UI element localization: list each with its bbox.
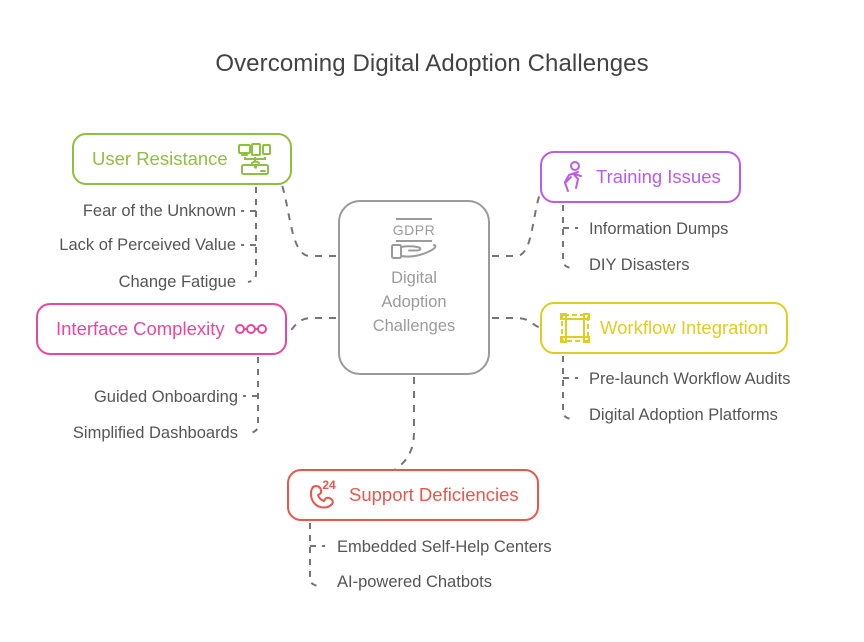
branch-support-deficiencies-label: Support Deficiencies (349, 484, 519, 506)
phone-24-support-icon: 24 (307, 479, 339, 511)
svg-text:24: 24 (322, 479, 336, 492)
central-label-line-3: Challenges (373, 314, 456, 338)
branch-user-resistance[interactable]: User Resistance (72, 133, 292, 185)
spine-interface-complexity (250, 357, 258, 433)
leaf-information-dumps: Information Dumps (589, 219, 728, 239)
branch-training-issues[interactable]: Training Issues (540, 151, 741, 203)
mindmap-canvas: Overcoming Digital Adoption Challenges G… (0, 0, 864, 642)
branch-support-deficiencies[interactable]: 24 Support Deficiencies (287, 469, 539, 521)
branch-interface-complexity[interactable]: Interface Complexity (36, 303, 287, 355)
leaf-fear-of-the-unknown: Fear of the Unknown (0, 201, 236, 221)
central-node-label: Digital Adoption Challenges (373, 266, 456, 338)
svg-text:GDPR: GDPR (393, 222, 435, 238)
spine-support-deficiencies (310, 523, 318, 586)
spine-workflow-integration (563, 356, 571, 419)
artboard-frame-icon (560, 313, 590, 343)
leaf-ai-powered-chatbots: AI-powered Chatbots (337, 572, 492, 592)
running-person-icon (560, 161, 586, 193)
leaf-digital-adoption-platforms: Digital Adoption Platforms (589, 405, 778, 425)
central-label-line-1: Digital (373, 266, 456, 290)
branch-workflow-integration[interactable]: Workflow Integration (540, 302, 788, 354)
leaf-simplified-dashboards: Simplified Dashboards (0, 423, 238, 443)
spine-user-resistance (248, 187, 256, 282)
leaf-lack-of-perceived-value: Lack of Perceived Value (0, 235, 236, 255)
page-title: Overcoming Digital Adoption Challenges (0, 50, 864, 78)
leaf-diy-disasters: DIY Disasters (589, 255, 690, 275)
leaf-embedded-self-help-centers: Embedded Self-Help Centers (337, 537, 552, 557)
leaf-guided-onboarding: Guided Onboarding (0, 387, 238, 407)
central-label-line-2: Adoption (373, 290, 456, 314)
branch-interface-complexity-label: Interface Complexity (56, 318, 225, 340)
branch-user-resistance-label: User Resistance (92, 148, 228, 170)
branch-training-issues-label: Training Issues (596, 166, 721, 188)
central-node[interactable]: GDPR Digital Adoption Challenges (338, 200, 490, 375)
leaf-change-fatigue: Change Fatigue (0, 272, 236, 292)
branch-workflow-integration-label: Workflow Integration (600, 317, 768, 339)
spine-training-issues (563, 205, 571, 268)
three-nodes-chain-icon (235, 322, 267, 336)
gdpr-hand-icon: GDPR (386, 215, 442, 261)
leaf-pre-launch-workflow-audits: Pre-launch Workflow Audits (589, 369, 790, 389)
devices-network-icon (238, 143, 272, 175)
